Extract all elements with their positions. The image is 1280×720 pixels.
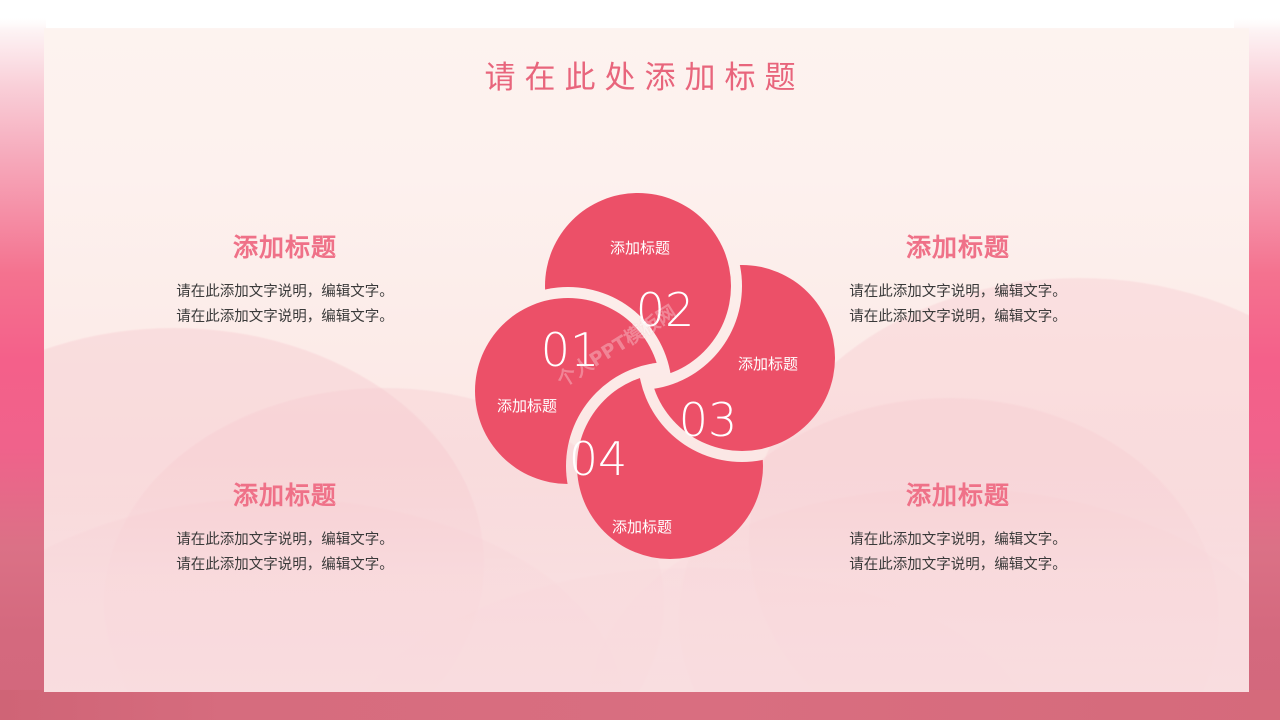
petal-label-03: 添加标题 <box>738 355 798 373</box>
text-block-line: 请在此添加文字说明，编辑文字。 <box>135 305 435 330</box>
text-block-line: 请在此添加文字说明，编辑文字。 <box>808 528 1108 553</box>
petal-label-01: 添加标题 <box>497 397 557 415</box>
pinwheel-petal-01[interactable]: 01 添加标题 <box>475 298 661 484</box>
text-block-line: 请在此添加文字说明，编辑文字。 <box>808 553 1108 578</box>
frame-band-left <box>0 0 46 720</box>
text-block-heading: 添加标题 <box>808 476 1108 512</box>
text-block-line: 请在此添加文字说明，编辑文字。 <box>135 528 435 553</box>
text-block-bottom-right: 添加标题 请在此添加文字说明，编辑文字。 请在此添加文字说明，编辑文字。 <box>808 476 1108 578</box>
page-title: 请在此处添加标题 <box>0 52 1280 97</box>
frame-top-fade <box>0 0 1280 30</box>
text-block-heading: 添加标题 <box>135 476 435 512</box>
petal-label-02: 添加标题 <box>610 239 670 257</box>
text-block-top-right: 添加标题 请在此添加文字说明，编辑文字。 请在此添加文字说明，编辑文字。 <box>808 228 1108 330</box>
pinwheel-diagram: 添加标题 02 添加标题 03 04 添加标题 01 添加标题 <box>430 186 850 576</box>
text-block-top-left: 添加标题 请在此添加文字说明，编辑文字。 请在此添加文字说明，编辑文字。 <box>135 228 435 330</box>
text-block-bottom-left: 添加标题 请在此添加文字说明，编辑文字。 请在此添加文字说明，编辑文字。 <box>135 476 435 578</box>
text-block-heading: 添加标题 <box>135 228 435 264</box>
text-block-line: 请在此添加文字说明，编辑文字。 <box>808 280 1108 305</box>
frame-band-bottom <box>0 690 1280 720</box>
text-block-heading: 添加标题 <box>808 228 1108 264</box>
petal-label-04: 添加标题 <box>612 518 672 536</box>
text-block-line: 请在此添加文字说明，编辑文字。 <box>135 553 435 578</box>
slide-canvas: 请在此处添加标题 添加标题 请在此添加文字说明，编辑文字。 请在此添加文字说明，… <box>0 0 1280 720</box>
text-block-line: 请在此添加文字说明，编辑文字。 <box>808 305 1108 330</box>
petal-number-01: 01 <box>541 323 600 377</box>
text-block-line: 请在此添加文字说明，编辑文字。 <box>135 280 435 305</box>
